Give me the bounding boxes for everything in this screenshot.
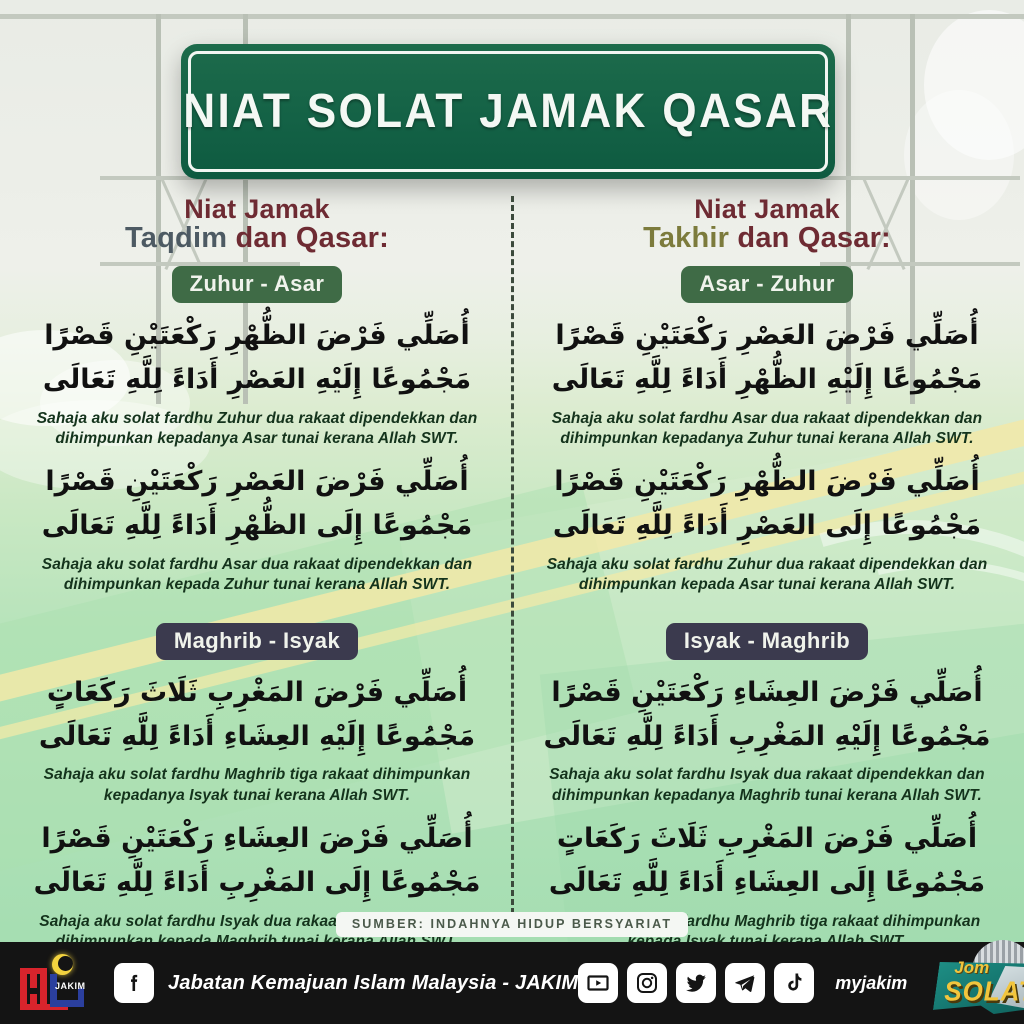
column-heading-accent: Taqdim [125, 222, 227, 254]
instagram-icon[interactable] [627, 963, 667, 1003]
social-links: myjakim Jom SOLAT [578, 946, 1024, 1020]
jakim-glyph [20, 972, 27, 1006]
section-pill: Maghrib - Isyak [156, 623, 358, 660]
column-heading-rest: dan Qasar: [729, 222, 891, 254]
column-heading-line1: Niat Jamak [10, 196, 504, 224]
section-maghrib-isyak: Maghrib - Isyak أُصَلِّي فَرْضَ المَغْرِ… [10, 610, 504, 953]
gantry-rail [0, 14, 1024, 19]
gantry-truss [820, 176, 1020, 180]
niat-arabic: أُصَلِّي فَرْضَ العِشَاءِ رَكْعَتَيْنِ ق… [10, 817, 504, 904]
source-note: SUMBER: INDAHNYA HIDUP BERSYARIAT [336, 912, 688, 937]
jakim-logo: JAKIM [18, 954, 90, 1012]
poster-canvas: NIAT SOLAT JAMAK QASAR Niat Jamak Taqdim… [0, 0, 1024, 1024]
crescent-moon-icon [52, 954, 73, 975]
niat-arabic: أُصَلِّي فَرْضَ المَغْرِبِ ثَلَاثَ رَكَع… [520, 817, 1014, 904]
column-heading: Niat Jamak Taqdim dan Qasar: [10, 196, 504, 253]
niat-translation: Sahaja aku solat fardhu Maghrib tiga rak… [10, 765, 504, 806]
section-zuhur-asar: Zuhur - Asar أُصَلِّي فَرْضَ الظُّهْرِ ر… [10, 253, 504, 596]
niat-entry: أُصَلِّي فَرْضَ الظُّهْرِ رَكْعَتَيْنِ ق… [520, 460, 1014, 595]
column-heading: Niat Jamak Takhir dan Qasar: [520, 196, 1014, 253]
section-asar-zuhur: Asar - Zuhur أُصَلِّي فَرْضَ العَصْرِ رَ… [520, 253, 1014, 596]
niat-translation: Sahaja aku solat fardhu Asar dua rakaat … [10, 555, 504, 596]
niat-entry: أُصَلِّي فَرْضَ العِشَاءِ رَكْعَتَيْنِ ق… [520, 671, 1014, 806]
title-sign: NIAT SOLAT JAMAK QASAR [181, 44, 835, 179]
niat-entry: أُصَلِّي فَرْضَ المَغْرِبِ ثَلَاثَ رَكَع… [10, 671, 504, 806]
niat-arabic: أُصَلِّي فَرْضَ المَغْرِبِ ثَلَاثَ رَكَع… [10, 671, 504, 758]
column-heading-line2: Taqdim dan Qasar: [10, 224, 504, 254]
niat-entry: أُصَلِّي فَرْضَ العَصْرِ رَكْعَتَيْنِ قَ… [520, 314, 1014, 449]
niat-arabic: أُصَلِّي فَرْضَ العَصْرِ رَكْعَتَيْنِ قَ… [10, 460, 504, 547]
jakim-glyph [40, 968, 47, 1006]
niat-entry: أُصَلِّي فَرْضَ العَصْرِ رَكْعَتَيْنِ قَ… [10, 460, 504, 595]
niat-arabic: أُصَلِّي فَرْضَ العِشَاءِ رَكْعَتَيْنِ ق… [520, 671, 1014, 758]
social-handle: myjakim [835, 973, 907, 994]
telegram-icon[interactable] [725, 963, 765, 1003]
tiktok-icon[interactable] [774, 963, 814, 1003]
niat-arabic: أُصَلِّي فَرْضَ الظُّهْرِ رَكْعَتَيْنِ ق… [10, 314, 504, 401]
niat-arabic: أُصَلِّي فَرْضَ الظُّهْرِ رَكْعَتَيْنِ ق… [520, 460, 1014, 547]
niat-entry: أُصَلِّي فَرْضَ الظُّهْرِ رَكْعَتَيْنِ ق… [10, 314, 504, 449]
column-jamak-takhir: Niat Jamak Takhir dan Qasar: Asar - Zuhu… [520, 190, 1014, 953]
facebook-link[interactable]: Jabatan Kemajuan Islam Malaysia - JAKIM [114, 963, 578, 1003]
section-pill: Isyak - Maghrib [666, 623, 868, 660]
main-content: Niat Jamak Taqdim dan Qasar: Zuhur - Asa… [0, 190, 1024, 920]
section-pill: Asar - Zuhur [681, 266, 853, 303]
twitter-icon[interactable] [676, 963, 716, 1003]
niat-translation: Sahaja aku solat fardhu Zuhur dua rakaat… [10, 409, 504, 450]
footer-bar: JAKIM Jabatan Kemajuan Islam Malaysia - … [0, 942, 1024, 1024]
column-heading-line1: Niat Jamak [520, 196, 1014, 224]
youtube-icon[interactable] [578, 963, 618, 1003]
source-note-wrapper: SUMBER: INDAHNYA HIDUP BERSYARIAT [0, 912, 1024, 937]
section-pill: Zuhur - Asar [172, 266, 343, 303]
column-heading-rest: dan Qasar: [227, 222, 389, 254]
column-heading-accent: Takhir [643, 222, 729, 254]
jakim-glyph [30, 972, 37, 988]
column-jamak-taqdim: Niat Jamak Taqdim dan Qasar: Zuhur - Asa… [10, 190, 504, 953]
jakim-logo-label: JAKIM [55, 981, 86, 991]
column-divider [511, 196, 514, 914]
niat-translation: Sahaja aku solat fardhu Isyak dua rakaat… [520, 765, 1014, 806]
jom-solat-badge[interactable]: Jom SOLAT [928, 946, 1024, 1020]
facebook-page-name: Jabatan Kemajuan Islam Malaysia - JAKIM [168, 972, 578, 995]
niat-translation: Sahaja aku solat fardhu Zuhur dua rakaat… [520, 555, 1014, 596]
facebook-icon[interactable] [114, 963, 154, 1003]
niat-arabic: أُصَلِّي فَرْضَ العَصْرِ رَكْعَتَيْنِ قَ… [520, 314, 1014, 401]
badge-bottom-text: SOLAT [944, 975, 1024, 1008]
section-isyak-maghrib: Isyak - Maghrib أُصَلِّي فَرْضَ العِشَاء… [520, 610, 1014, 953]
page-title: NIAT SOLAT JAMAK QASAR [183, 84, 833, 139]
column-heading-line2: Takhir dan Qasar: [520, 224, 1014, 254]
niat-translation: Sahaja aku solat fardhu Asar dua rakaat … [520, 409, 1014, 450]
